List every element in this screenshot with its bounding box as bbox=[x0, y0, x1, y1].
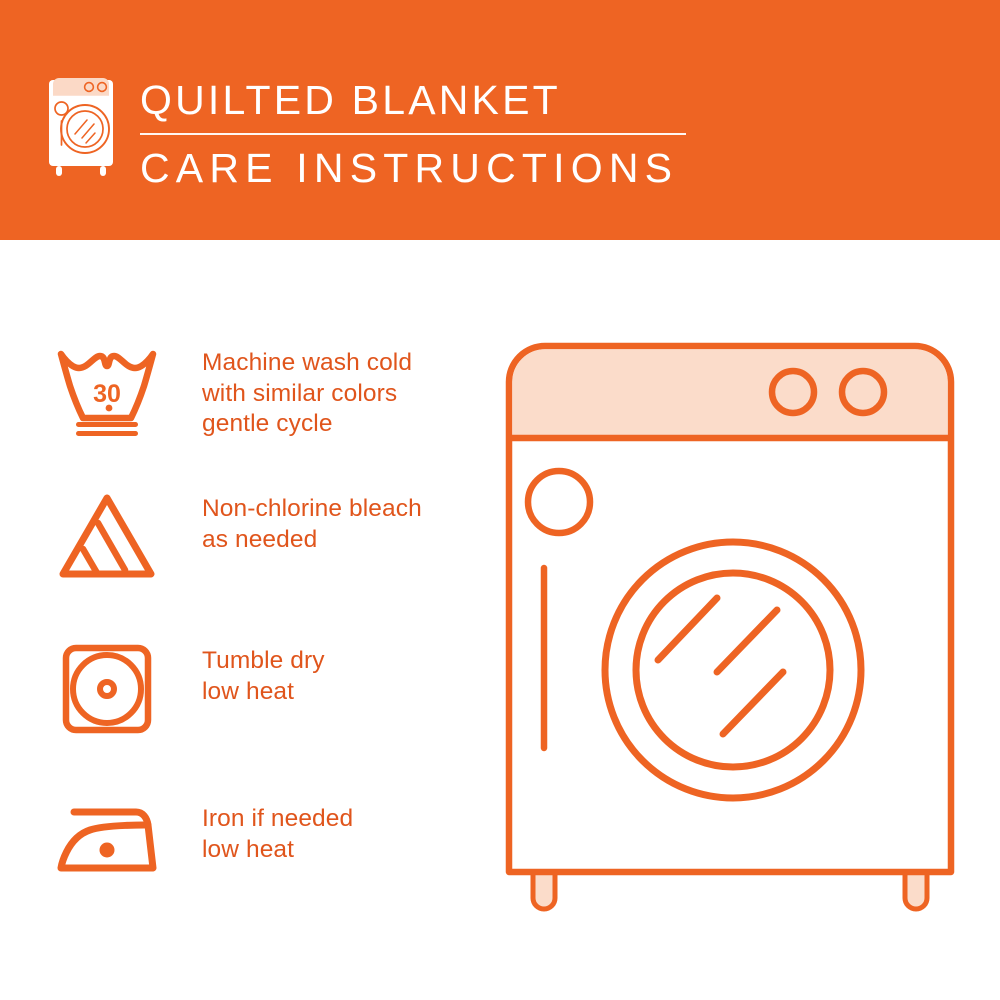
care-item-iron: Iron if needed low heat bbox=[48, 798, 478, 882]
washer-legs bbox=[533, 870, 927, 909]
title-divider bbox=[140, 133, 686, 135]
page-title: QUILTED BLANKET bbox=[140, 74, 700, 126]
page-subtitle: CARE INSTRUCTIONS bbox=[140, 140, 700, 196]
header-banner: QUILTED BLANKET CARE INSTRUCTIONS bbox=[0, 0, 1000, 240]
svg-text:30: 30 bbox=[93, 380, 121, 408]
tumble-dry-low-heat-icon bbox=[48, 640, 166, 738]
header-title-group: QUILTED BLANKET CARE INSTRUCTIONS bbox=[140, 74, 700, 196]
non-chlorine-bleach-triangle-icon bbox=[48, 488, 166, 582]
care-item-machine-wash: 30 Machine wash cold with similar colors… bbox=[48, 342, 478, 440]
care-item-label: Non-chlorine bleach as needed bbox=[166, 488, 422, 555]
wash-tub-30-icon: 30 bbox=[48, 342, 166, 438]
care-item-tumble-dry: Tumble dry low heat bbox=[48, 640, 478, 738]
care-item-label: Machine wash cold with similar colors ge… bbox=[166, 342, 412, 440]
care-item-bleach: Non-chlorine bleach as needed bbox=[48, 488, 478, 582]
care-item-label: Iron if needed low heat bbox=[166, 798, 353, 865]
iron-low-heat-icon bbox=[48, 798, 166, 882]
care-item-label: Tumble dry low heat bbox=[166, 640, 325, 707]
washing-machine-icon bbox=[44, 64, 118, 182]
front-load-washing-machine-illustration bbox=[495, 330, 965, 940]
